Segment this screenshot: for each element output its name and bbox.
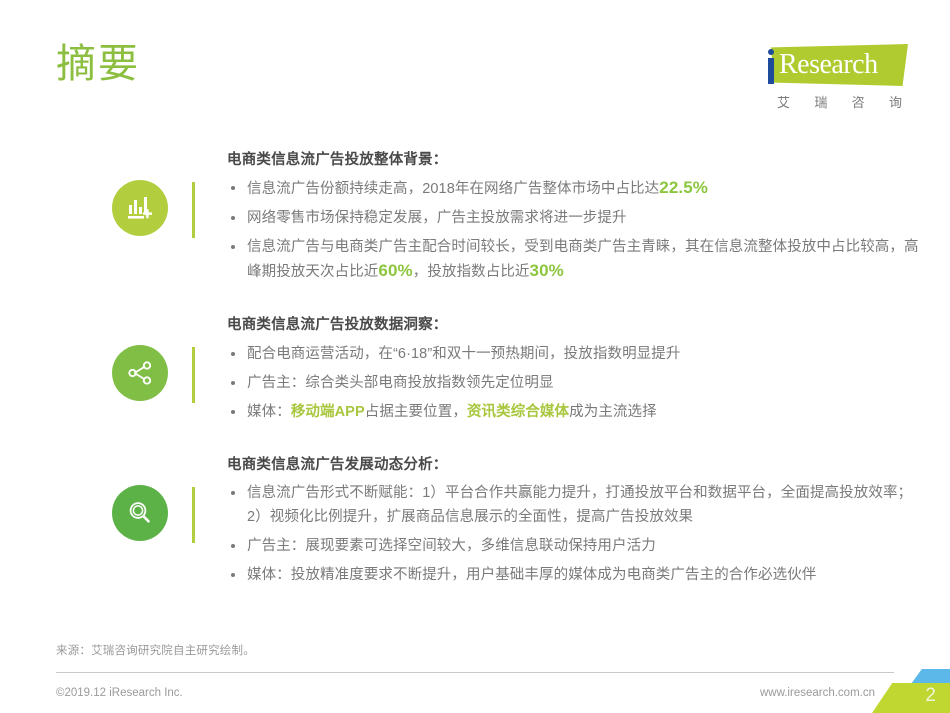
logo-i-stem-icon bbox=[768, 58, 774, 84]
section-2-heading: 电商类信息流广告投放数据洞察： bbox=[227, 315, 922, 335]
bullet-item: 信息流广告形式不断赋能：1）平台合作共赢能力提升，打通投放平台和数据平台，全面提… bbox=[227, 481, 922, 529]
logo-cn-char-4: 询 bbox=[889, 92, 902, 111]
bullet-text: 信息流广告形式不断赋能：1）平台合作共赢能力提升，打通投放平台和数据平台，全面提… bbox=[247, 485, 912, 525]
page-title: 摘要 bbox=[56, 42, 140, 86]
bullet-text: 配合电商运营活动，在“6·18”和双十一预热期间，投放指数明显提升 bbox=[247, 346, 680, 362]
section-1-heading: 电商类信息流广告投放整体背景： bbox=[227, 150, 922, 170]
section-3-body: 电商类信息流广告发展动态分析： 信息流广告形式不断赋能：1）平台合作共赢能力提升… bbox=[195, 455, 950, 592]
source-note: 来源：艾瑞咨询研究院自主研究绘制。 bbox=[56, 642, 255, 658]
bullet-item: 广告主：综合类头部电商投放指数领先定位明显 bbox=[227, 371, 922, 395]
bullet-item: 信息流广告份额持续走高，2018年在网络广告整体市场中占比达22.5% bbox=[227, 176, 922, 201]
share-nodes-icon bbox=[112, 345, 168, 401]
bullet-accent-text: 资讯类综合媒体 bbox=[467, 404, 569, 420]
section-3-heading: 电商类信息流广告发展动态分析： bbox=[227, 455, 922, 475]
magnifier-icon bbox=[112, 485, 168, 541]
section-3-bullet-list: 信息流广告形式不断赋能：1）平台合作共赢能力提升，打通投放平台和数据平台，全面提… bbox=[227, 481, 922, 587]
section-3-icon-col bbox=[112, 455, 192, 541]
bullet-item: 配合电商运营活动，在“6·18”和双十一预热期间，投放指数明显提升 bbox=[227, 342, 922, 366]
logo-cn-char-1: 艾 bbox=[777, 92, 790, 111]
bullet-text: 媒体： bbox=[247, 404, 291, 420]
bullet-accent-number: 30% bbox=[530, 261, 564, 280]
bullet-item: 广告主：展现要素可选择空间较大，多维信息联动保持用户活力 bbox=[227, 534, 922, 558]
bullet-text: 占据主要位置， bbox=[365, 404, 467, 420]
corner-lime-shape bbox=[872, 683, 950, 713]
section-1-bullet-list: 信息流广告份额持续走高，2018年在网络广告整体市场中占比达22.5%网络零售市… bbox=[227, 176, 922, 284]
bullet-text: 信息流广告份额持续走高，2018年在网络广告整体市场中占比达 bbox=[247, 181, 659, 197]
section-1-body: 电商类信息流广告投放整体背景： 信息流广告份额持续走高，2018年在网络广告整体… bbox=[195, 150, 950, 289]
summary-section-2: 电商类信息流广告投放数据洞察： 配合电商运营活动，在“6·18”和双十一预热期间… bbox=[0, 315, 950, 428]
website-url: www.iresearch.com.cn bbox=[760, 687, 875, 699]
summary-section-1: 电商类信息流广告投放整体背景： 信息流广告份额持续走高，2018年在网络广告整体… bbox=[0, 150, 950, 289]
section-2-icon-col bbox=[112, 315, 192, 401]
footer-divider bbox=[56, 672, 894, 673]
logo-cn-char-2: 瑞 bbox=[814, 92, 827, 111]
bullet-text: 媒体：投放精准度要求不断提升，用户基础丰厚的媒体成为电商类广告主的合作必选伙伴 bbox=[247, 567, 816, 583]
page-number: 2 bbox=[925, 686, 936, 705]
bullet-accent-text: 移动端APP bbox=[291, 404, 365, 420]
bullet-accent-number: 60% bbox=[378, 261, 412, 280]
section-2-body: 电商类信息流广告投放数据洞察： 配合电商运营活动，在“6·18”和双十一预热期间… bbox=[195, 315, 950, 428]
bullet-item: 网络零售市场保持稳定发展，广告主投放需求将进一步提升 bbox=[227, 206, 922, 230]
section-2-bullet-list: 配合电商运营活动，在“6·18”和双十一预热期间，投放指数明显提升广告主：综合类… bbox=[227, 342, 922, 424]
bullet-text: 广告主：展现要素可选择空间较大，多维信息联动保持用户活力 bbox=[247, 538, 656, 554]
bullet-text: 网络零售市场保持稳定发展，广告主投放需求将进一步提升 bbox=[247, 210, 627, 226]
logo-mark: Research bbox=[763, 44, 908, 86]
logo-cn-char-3: 咨 bbox=[852, 92, 865, 111]
logo-i-dot-icon bbox=[768, 49, 774, 55]
summary-sections: 电商类信息流广告投放整体背景： 信息流广告份额持续走高，2018年在网络广告整体… bbox=[0, 150, 950, 592]
section-1-icon-col bbox=[112, 150, 192, 236]
copyright-text: ©2019.12 iResearch Inc. bbox=[56, 687, 183, 699]
bullet-accent-number: 22.5% bbox=[659, 178, 708, 197]
iresearch-logo: Research 艾 瑞 咨 询 bbox=[763, 44, 908, 116]
bullet-text: 广告主：综合类头部电商投放指数领先定位明显 bbox=[247, 375, 554, 391]
bar-chart-plus-icon bbox=[112, 180, 168, 236]
summary-section-3: 电商类信息流广告发展动态分析： 信息流广告形式不断赋能：1）平台合作共赢能力提升… bbox=[0, 455, 950, 592]
bullet-text: ，投放指数占比近 bbox=[413, 264, 530, 280]
logo-wordmark: Research bbox=[779, 50, 878, 80]
bullet-text: 成为主流选择 bbox=[569, 404, 657, 420]
logo-chinese-name: 艾 瑞 咨 询 bbox=[777, 92, 902, 111]
bullet-item: 信息流广告与电商类广告主配合时间较长，受到电商类广告主青睐，其在信息流整体投放中… bbox=[227, 235, 922, 284]
bullet-item: 媒体：移动端APP占据主要位置，资讯类综合媒体成为主流选择 bbox=[227, 400, 922, 424]
bullet-text: 信息流广告与电商类广告主配合时间较长，受到电商类广告主青睐，其在信息流整体投放中… bbox=[247, 239, 919, 280]
slide-root: 摘要 Research 艾 瑞 咨 询 bbox=[0, 0, 950, 713]
corner-decoration: 2 bbox=[872, 669, 950, 713]
bullet-item: 媒体：投放精准度要求不断提升，用户基础丰厚的媒体成为电商类广告主的合作必选伙伴 bbox=[227, 563, 922, 587]
